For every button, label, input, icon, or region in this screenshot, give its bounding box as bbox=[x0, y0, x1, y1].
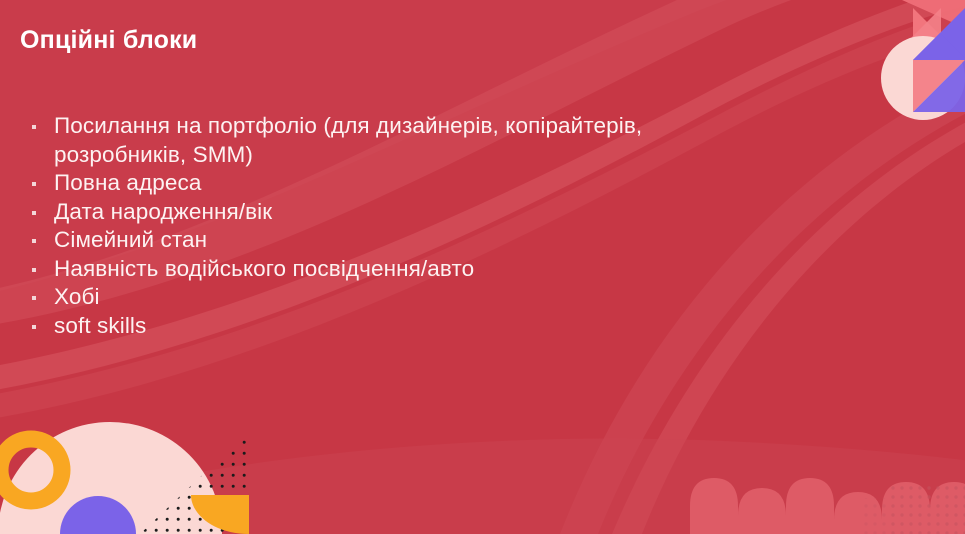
list-item: Повна адреса bbox=[30, 169, 790, 198]
slide-title: Опційні блоки bbox=[20, 26, 197, 55]
list-item: soft skills bbox=[30, 312, 790, 341]
presentation-slide: Опційні блоки Посилання на портфоліо (дл… bbox=[0, 0, 965, 534]
list-item: Хобі bbox=[30, 283, 790, 312]
bullet-list: Посилання на портфоліо (для дизайнерів, … bbox=[30, 112, 790, 340]
list-item: Наявність водійського посвідчення/авто bbox=[30, 255, 790, 284]
list-item: Посилання на портфоліо (для дизайнерів, … bbox=[30, 112, 754, 169]
list-item: Дата народження/вік bbox=[30, 198, 790, 227]
list-item: Сімейний стан bbox=[30, 226, 790, 255]
